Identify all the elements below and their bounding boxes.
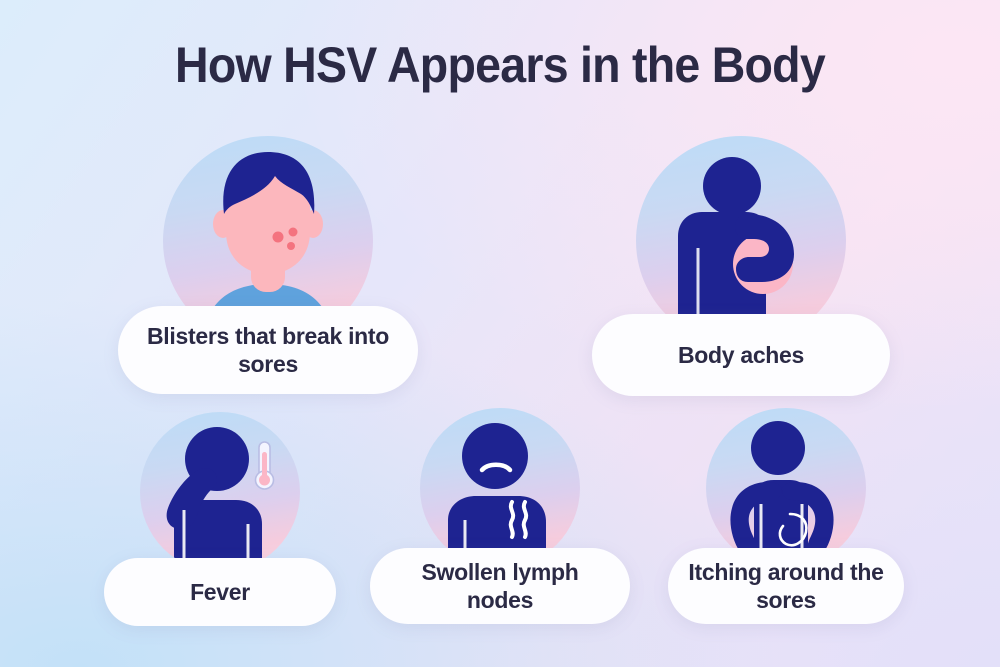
symptom-card-fever[interactable]: Fever	[104, 412, 336, 622]
symptom-label-card[interactable]: Swollen lymph nodes	[370, 548, 630, 624]
symptom-label-text: Body aches	[662, 340, 820, 370]
person-frowning-with-swelling-icon	[420, 408, 580, 568]
person-hands-on-hips-icon	[706, 408, 866, 568]
symptom-label-card[interactable]: Fever	[104, 558, 336, 626]
infographic-canvas: How HSV Appears in the Body	[0, 0, 1000, 667]
person-with-thermometer-icon	[140, 412, 300, 572]
symptom-label-text: Swollen lymph nodes	[370, 558, 630, 614]
symptom-card-aches[interactable]: Body aches	[592, 136, 890, 396]
symptom-card-lymph[interactable]: Swollen lymph nodes	[370, 408, 630, 622]
symptom-label-card[interactable]: Itching around the sores	[668, 548, 904, 624]
symptom-label-text: Itching around the sores	[668, 558, 904, 614]
symptom-label-text: Fever	[174, 577, 266, 607]
symptom-card-itching[interactable]: Itching around the sores	[668, 408, 904, 622]
page-title: How HSV Appears in the Body	[35, 36, 965, 94]
symptom-card-blisters[interactable]: Blisters that break into sores	[118, 136, 418, 396]
symptom-label-card[interactable]: Blisters that break into sores	[118, 306, 418, 394]
symptom-label-text: Blisters that break into sores	[118, 322, 418, 378]
symptom-label-card[interactable]: Body aches	[592, 314, 890, 396]
